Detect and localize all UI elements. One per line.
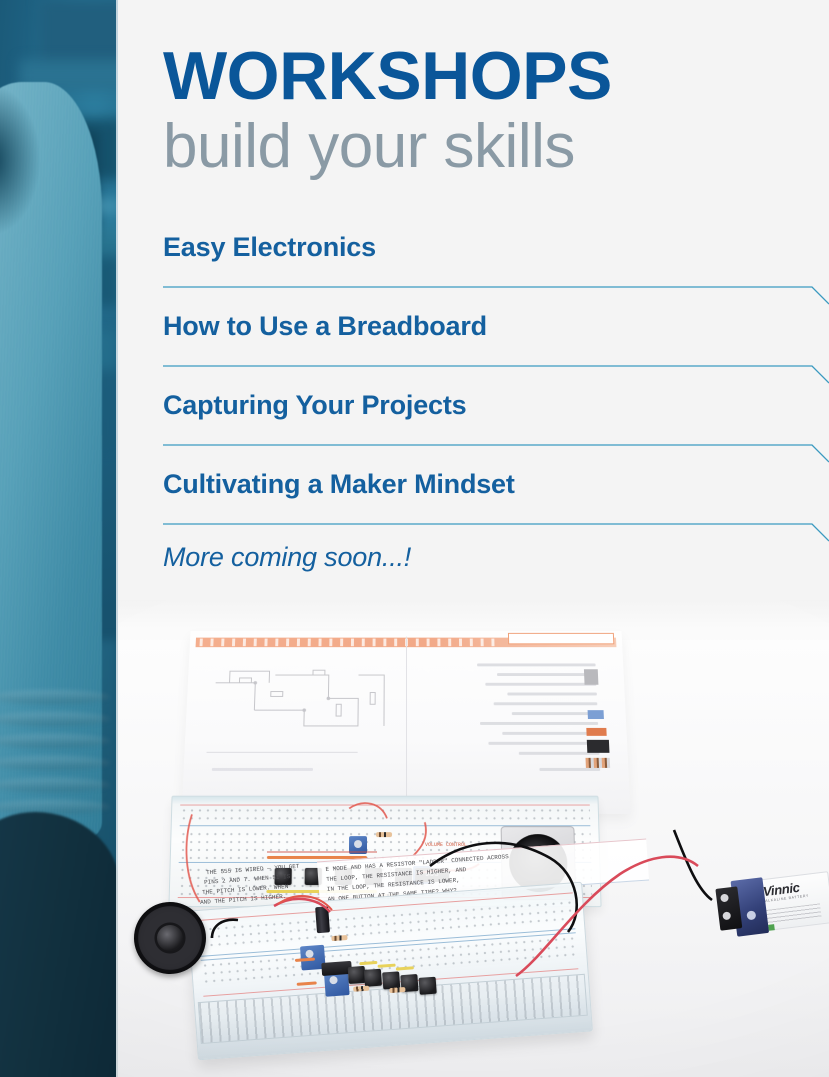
component-photo-pot (588, 710, 604, 719)
page-rule (207, 752, 358, 753)
component-photo-ic (584, 669, 599, 684)
page-text-line (480, 722, 598, 725)
breadboard-photo: 555 (118, 600, 829, 1077)
page-title: WORKSHOPS build your skills (163, 45, 783, 179)
divider-rule (163, 357, 829, 383)
page-text-line (212, 768, 313, 771)
page-text-line (502, 732, 598, 735)
workshop-label: Easy Electronics (163, 225, 829, 261)
page-text-line (485, 683, 596, 686)
title-subtitle: build your skills (163, 114, 783, 179)
workshop-label: Capturing Your Projects (163, 383, 829, 419)
potentiometer (349, 836, 367, 854)
list-item[interactable]: Capturing Your Projects (163, 383, 829, 462)
workbook-header-ticks (200, 639, 495, 647)
list-item[interactable]: How to Use a Breadboard (163, 304, 829, 383)
divider-rule (163, 436, 829, 462)
tactile-button (419, 977, 437, 995)
more-coming-soon-note: More coming soon...! (163, 542, 411, 573)
workshop-list: Easy Electronics How to Use a Breadboard… (163, 225, 829, 541)
page-text-line (539, 768, 600, 771)
electrolytic-capacitor (315, 906, 330, 933)
poster-root: WORKSHOPS build your skills Easy Electro… (0, 0, 829, 1077)
component-photo-dip (587, 740, 610, 753)
content-panel: WORKSHOPS build your skills Easy Electro… (118, 0, 829, 1077)
workshop-label: Cultivating a Maker Mindset (163, 462, 829, 498)
power-rail-positive (180, 805, 590, 806)
workshop-label: How to Use a Breadboard (163, 304, 829, 340)
page-text-line (488, 742, 599, 745)
battery-pack: Vinnic ALKALINE BATTERY (715, 869, 829, 944)
tactile-button (364, 969, 382, 987)
divider-rule (163, 278, 829, 304)
left-duotone-photo (0, 0, 118, 1077)
component-photo-cap (586, 728, 606, 736)
workbook-corner-tab (508, 633, 614, 644)
component-photo-resistor (586, 758, 611, 768)
circuit-schematic (207, 665, 398, 741)
divider-rule (163, 515, 829, 541)
person-lower-body (0, 812, 118, 1077)
title-main: WORKSHOPS (163, 45, 783, 108)
page-text-line (507, 693, 597, 696)
list-item[interactable]: Easy Electronics (163, 225, 829, 304)
resistor (376, 832, 392, 837)
workbook (181, 631, 630, 814)
list-item[interactable]: Cultivating a Maker Mindset (163, 462, 829, 541)
battery-fine-print (766, 903, 821, 923)
volume-control-label: VOLUME CONTROL (425, 842, 467, 848)
battery-eco-badge (768, 924, 775, 931)
page-text-line (497, 673, 596, 676)
tactile-button (348, 966, 366, 984)
workbook-spine (406, 637, 407, 807)
breadboard-holes (180, 807, 591, 825)
lower-breadboard (187, 882, 593, 1061)
page-text-line (477, 663, 596, 666)
page-text-line (512, 712, 598, 715)
page-text-line (494, 702, 598, 705)
